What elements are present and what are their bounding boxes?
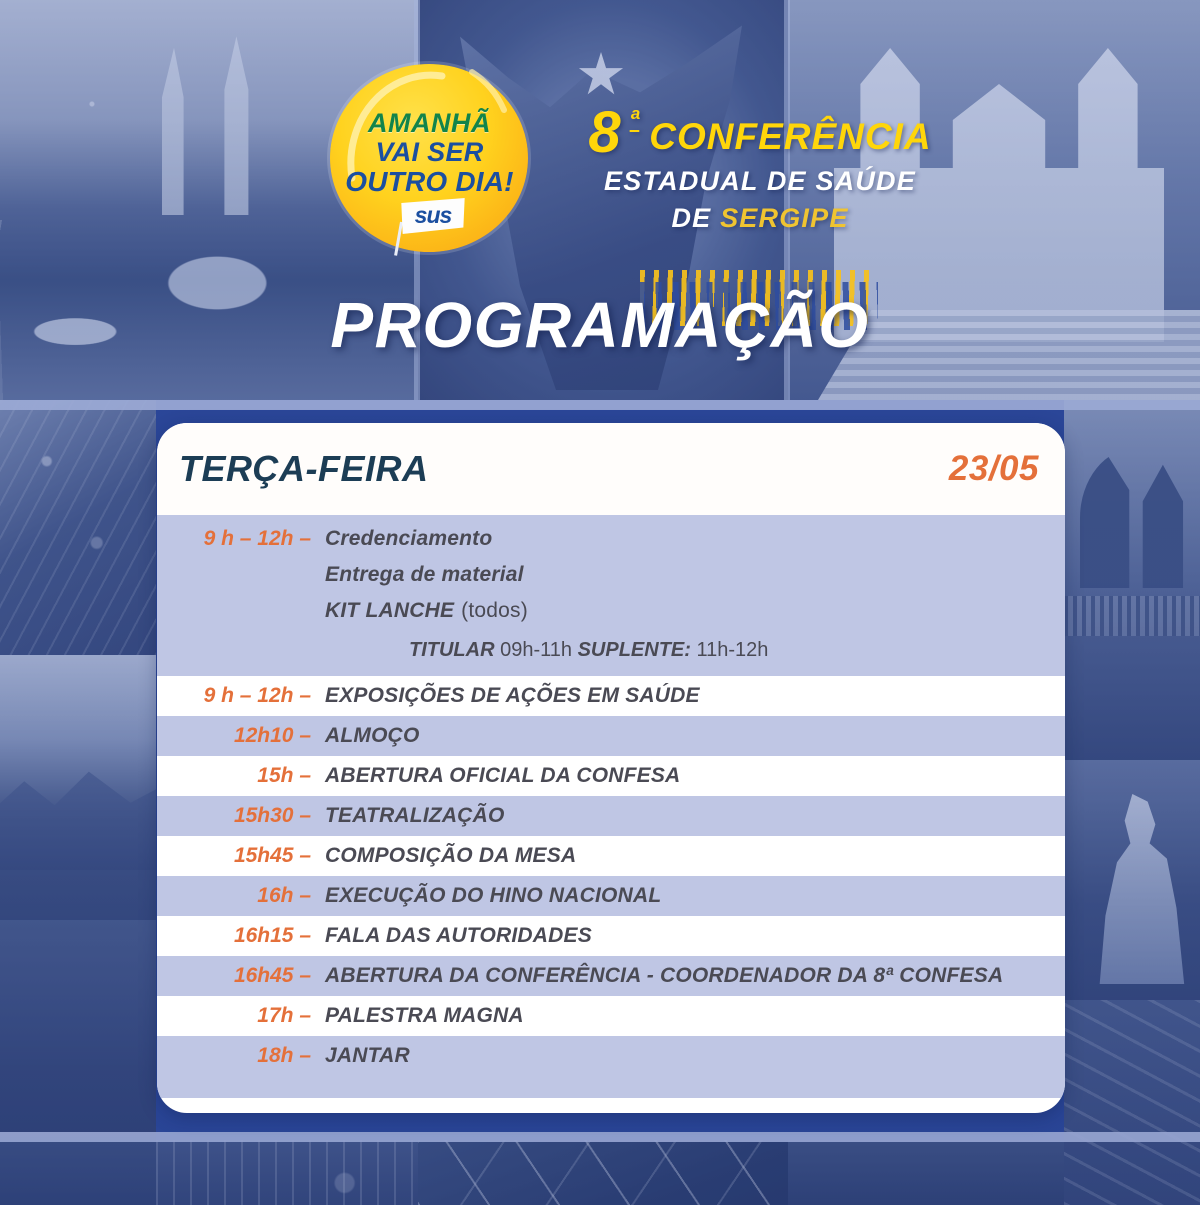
schedule-row-label: ALMOÇO <box>325 724 420 748</box>
photo-bottom-right <box>788 1140 1064 1205</box>
photo-right-arches-monument <box>1064 400 1200 760</box>
schedule-row-label: EXPOSIÇÕES DE AÇÕES EM SAÚDE <box>325 684 700 708</box>
schedule-block-label-kit: KIT LANCHE <box>325 599 454 623</box>
schedule-row: 17h –PALESTRA MAGNA <box>157 996 1065 1036</box>
photo-right-folk-dancer <box>1064 760 1200 1000</box>
sus-flag-icon: sus <box>400 198 466 234</box>
badge-slogan-line1: AMANHÃ <box>322 110 537 137</box>
schedule-row: 9 h – 12h –EXPOSIÇÕES DE AÇÕES EM SAÚDE <box>157 676 1065 716</box>
schedule-credentialing-block: 9 h – 12h – Credenciamento Entrega de ma… <box>157 515 1065 676</box>
schedule-block-time: 9 h – 12h – <box>157 527 325 551</box>
schedule-row-time: 17h – <box>157 1004 325 1028</box>
schedule-block-label-kit-note: (todos) <box>461 599 528 623</box>
suplente-label: SUPLENTE: <box>578 639 691 661</box>
schedule-row-time: 15h30 – <box>157 804 325 828</box>
schedule-row-label: ABERTURA OFICIAL DA CONFESA <box>325 764 680 788</box>
photo-left-landscape <box>0 920 156 1140</box>
conference-title: 8 ª CONFERÊNCIA ESTADUAL DE SAÚDE DE SER… <box>560 104 960 234</box>
schedule-row-time: 18h – <box>157 1044 325 1068</box>
conference-state-line: DE SERGIPE <box>560 203 960 234</box>
schedule-card-footer <box>157 1076 1065 1098</box>
state-name: SERGIPE <box>720 203 848 233</box>
collage-seam-top <box>0 400 1200 410</box>
titular-time: 09h-11h <box>500 639 572 661</box>
schedule-row-label: EXECUÇÃO DO HINO NACIONAL <box>325 884 661 908</box>
badge-slogan-line2: VAI SER <box>322 139 537 166</box>
photo-left-dunes <box>0 655 156 920</box>
schedule-row-label: FALA DAS AUTORIDADES <box>325 924 592 948</box>
conference-title-line1: 8 ª CONFERÊNCIA <box>560 104 960 162</box>
schedule-row: 18h –JANTAR <box>157 1036 1065 1076</box>
schedule-block-line: Entrega de material <box>157 563 1065 587</box>
schedule-block-line: KIT LANCHE (todos) <box>157 599 1065 623</box>
badge-slogan: AMANHÃ VAI SER OUTRO DIA! <box>322 110 537 196</box>
titular-label: TITULAR <box>409 639 495 661</box>
suplente-time: 11h-12h <box>697 639 769 661</box>
schedule-date: 23/05 <box>949 449 1039 489</box>
schedule-row-label: ABERTURA DA CONFERÊNCIA - COORDENADOR DA… <box>325 964 1003 988</box>
schedule-row-label: PALESTRA MAGNA <box>325 1004 524 1028</box>
schedule-row: 16h45 –ABERTURA DA CONFERÊNCIA - COORDEN… <box>157 956 1065 996</box>
conference-word: CONFERÊNCIA <box>649 118 931 155</box>
schedule-row: 15h –ABERTURA OFICIAL DA CONFESA <box>157 756 1065 796</box>
schedule-row-time: 15h45 – <box>157 844 325 868</box>
schedule-rows: 9 h – 12h –EXPOSIÇÕES DE AÇÕES EM SAÚDE1… <box>157 676 1065 1076</box>
schedule-row-time: 9 h – 12h – <box>157 684 325 708</box>
schedule-row: 15h45 –COMPOSIÇÃO DA MESA <box>157 836 1065 876</box>
photo-bottom-left <box>0 1140 156 1205</box>
edition-number: 8 <box>588 104 619 162</box>
schedule-block-label-credenciamento: Credenciamento <box>325 527 492 551</box>
sus-logo-text: sus <box>400 202 466 229</box>
photo-bottom-rain <box>418 1140 788 1205</box>
photo-right-texture <box>1064 1000 1200 1205</box>
schedule-block-line: 9 h – 12h – Credenciamento <box>157 527 1065 551</box>
schedule-row-time: 16h45 – <box>157 964 325 988</box>
poster-root: AMANHÃ VAI SER OUTRO DIA! sus 8 ª CONFER… <box>0 0 1200 1205</box>
schedule-card: TERÇA-FEIRA 23/05 9 h – 12h – Credenciam… <box>157 423 1065 1113</box>
schedule-row-time: 15h – <box>157 764 325 788</box>
schedule-row-time: 12h10 – <box>157 724 325 748</box>
schedule-row-label: TEATRALIZAÇÃO <box>325 804 505 828</box>
schedule-row-label: JANTAR <box>325 1044 410 1068</box>
schedule-row: 15h30 –TEATRALIZAÇÃO <box>157 796 1065 836</box>
schedule-row-time: 16h15 – <box>157 924 325 948</box>
schedule-day-name: TERÇA-FEIRA <box>179 448 428 490</box>
schedule-row: 12h10 –ALMOÇO <box>157 716 1065 756</box>
state-prefix: DE <box>671 203 711 233</box>
schedule-block-label-entrega: Entrega de material <box>325 563 524 587</box>
edition-ordinal: ª <box>630 106 640 132</box>
photo-bottom-street <box>156 1140 418 1205</box>
collage-seam-bottom <box>0 1132 1200 1142</box>
schedule-block-detail: TITULAR 09h-11h SUPLENTE: 11h-12h <box>157 639 1065 662</box>
schedule-row-label: COMPOSIÇÃO DA MESA <box>325 844 576 868</box>
conference-subtitle: ESTADUAL DE SAÚDE <box>560 166 960 197</box>
schedule-card-header: TERÇA-FEIRA 23/05 <box>157 423 1065 515</box>
schedule-row-time: 16h – <box>157 884 325 908</box>
campaign-badge: AMANHÃ VAI SER OUTRO DIA! sus <box>322 58 537 258</box>
page-title: PROGRAMAÇÃO <box>0 288 1200 362</box>
badge-slogan-line3: OUTRO DIA! <box>322 168 537 196</box>
photo-left-crab-harvest <box>0 400 156 655</box>
schedule-row: 16h –EXECUÇÃO DO HINO NACIONAL <box>157 876 1065 916</box>
schedule-row: 16h15 –FALA DAS AUTORIDADES <box>157 916 1065 956</box>
